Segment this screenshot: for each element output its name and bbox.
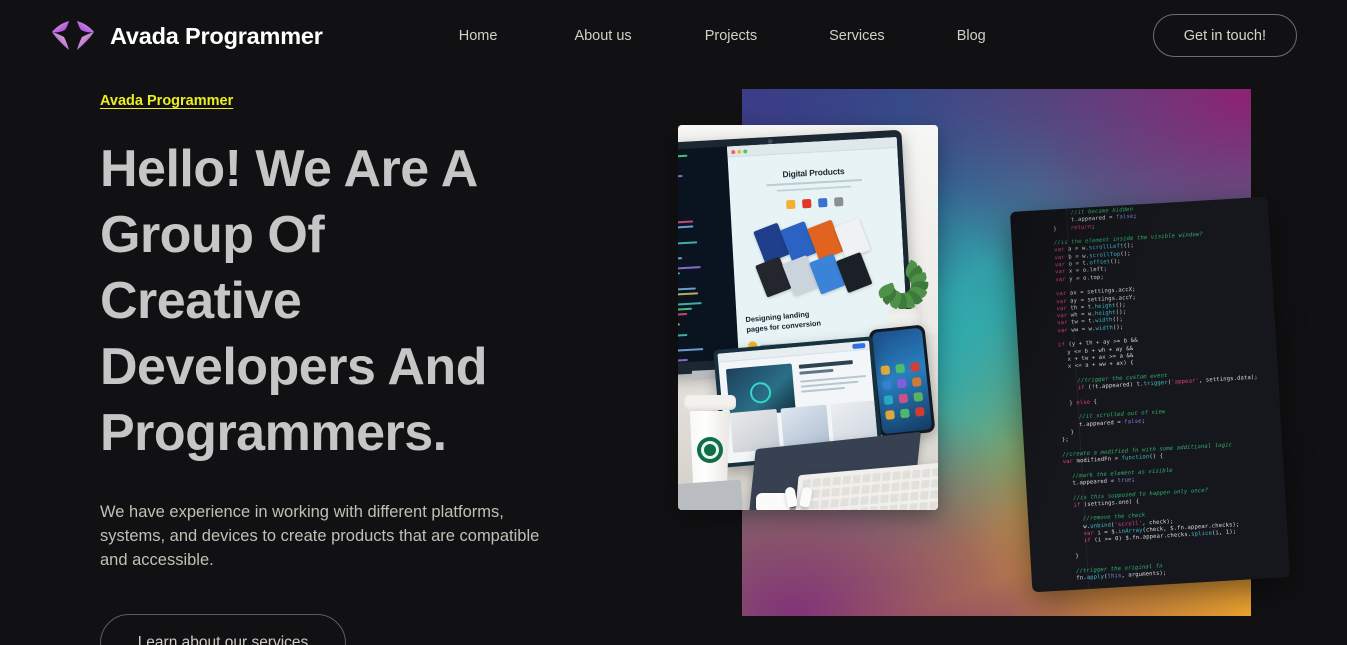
photo-starbucks-logo: [697, 437, 723, 463]
photo-keyboard-key: [812, 478, 821, 487]
photo-icon-2: [802, 199, 811, 208]
photo-browser-caption: Designing landing pages for conversion: [745, 307, 832, 334]
photo-keyboard-key: [899, 504, 908, 510]
photo-keyboard-key: [910, 492, 919, 501]
photo-keyboard-key: [879, 506, 888, 510]
photo-keyboard-key: [861, 485, 870, 494]
photo-keyboard-key: [850, 497, 859, 506]
photo-plant-leaves: [876, 253, 934, 315]
nav-item-projects[interactable]: Projects: [705, 22, 757, 50]
photo-phone-app-icon: [912, 377, 922, 387]
photo-phone-app-icon: [895, 364, 905, 374]
photo-airpod-left: [784, 486, 797, 507]
photo-keyboard-key: [922, 469, 931, 478]
photo-phone-app-icon: [915, 407, 925, 417]
photo-collage-card: [834, 218, 871, 259]
photo-phone-app-icon: [900, 408, 910, 418]
photo-keyboard-key: [862, 474, 871, 483]
photo-code-line: [678, 241, 697, 245]
photo-keyboard-key: [880, 494, 889, 503]
get-in-touch-button[interactable]: Get in touch!: [1153, 14, 1297, 57]
photo-phone-app-icon: [885, 410, 895, 420]
photo-starbucks-cup: [684, 395, 736, 493]
photo-keyboard-key: [872, 473, 881, 482]
photo-keyboard-key: [869, 506, 878, 510]
photo-code-line: [678, 292, 698, 297]
photo-keyboard-key: [832, 477, 841, 486]
photo-keyboard-key: [841, 487, 850, 496]
photo-keyboard-key: [859, 507, 868, 510]
photo-keyboard-key: [912, 470, 921, 479]
photo-phone-app-icon: [913, 392, 923, 402]
photo-browser-subline-2: [777, 186, 852, 192]
site-header: Avada Programmer Home About us Projects …: [0, 0, 1347, 72]
photo-code-line: [678, 324, 680, 328]
photo-ipad-cta: [852, 343, 865, 349]
photo-keyboard-key: [889, 505, 898, 510]
desk-workspace-photo: Digital Products Designing landing pages…: [678, 125, 938, 510]
photo-browser-dot: [737, 149, 741, 153]
photo-keyboard-key: [871, 484, 880, 493]
photo-phone-app-icon: [898, 394, 908, 404]
photo-phone-app-icon: [910, 362, 920, 372]
photo-keyboard-key: [822, 477, 831, 486]
nav-item-about-us[interactable]: About us: [574, 22, 631, 50]
code-snippet-body: //it became hiddent.appeared = false;} r…: [1010, 197, 1290, 593]
photo-code-line: [678, 313, 687, 317]
photo-browser-toolbar: [727, 137, 898, 157]
photo-code-line: [678, 363, 704, 364]
photo-keyboard-key: [882, 472, 891, 481]
nav-item-services[interactable]: Services: [829, 22, 885, 50]
photo-keyboard-key: [852, 475, 861, 484]
photo-code-line: [678, 308, 692, 312]
photo-keyboard-key: [929, 501, 938, 510]
photo-keyboard-key: [821, 489, 830, 498]
brand-logo-link[interactable]: Avada Programmer: [50, 19, 323, 53]
photo-icon-3: [818, 198, 827, 207]
photo-keyboard-key: [892, 471, 901, 480]
photo-code-line: [678, 266, 701, 271]
landing-page: Avada Programmer Home About us Projects …: [0, 0, 1347, 645]
photo-keyboard-key: [839, 509, 848, 510]
photo-keyboard-key: [919, 502, 928, 510]
photo-code-line: [678, 226, 693, 230]
hero-headline: Hello! We Are A Group Of Creative Develo…: [100, 136, 520, 466]
photo-keyboard-key: [930, 490, 938, 499]
photo-airpod-right: [799, 486, 813, 508]
photo-keyboard-key: [920, 491, 929, 500]
photo-keyboard-key: [901, 482, 910, 491]
photo-phone-app-icon: [882, 380, 892, 390]
hero-eyebrow-link[interactable]: Avada Programmer: [100, 93, 233, 109]
photo-iphone-screen: [872, 328, 932, 435]
photo-phone-app-icon: [897, 379, 907, 389]
photo-keyboard-key: [921, 480, 930, 489]
photo-code-line: [678, 273, 680, 276]
photo-keyboard-key: [849, 508, 858, 510]
photo-browser-card-collage: [749, 216, 883, 307]
code-snippet-panel: //it became hiddent.appeared = false;} r…: [1010, 197, 1290, 593]
nav-item-home[interactable]: Home: [459, 22, 498, 50]
brand-name: Avada Programmer: [110, 23, 323, 50]
photo-keyboard-key: [900, 493, 909, 502]
photo-code-line: [678, 302, 702, 307]
photo-keyboard-key: [860, 496, 869, 505]
photo-browser-icon-row: [730, 194, 901, 212]
photo-cup-lid: [684, 395, 736, 410]
photo-code-line: [678, 333, 687, 337]
hero-text-column: Avada Programmer Hello! We Are A Group O…: [100, 92, 660, 645]
photo-keyboard-key: [931, 479, 938, 488]
photo-collage-card: [836, 252, 873, 293]
photo-code-line: [678, 155, 687, 159]
photo-laptop-edge: [678, 480, 743, 510]
photo-keyboard-key: [842, 476, 851, 485]
photo-code-line: [678, 348, 703, 353]
learn-about-services-button[interactable]: Learn about our services: [100, 614, 346, 645]
photo-browser-title: Digital Products: [728, 163, 899, 182]
photo-keyboard-key: [840, 498, 849, 507]
photo-browser-dot: [743, 149, 747, 153]
photo-code-line: [678, 257, 682, 261]
photo-browser-dot: [731, 150, 735, 154]
main-nav: Home About us Projects Services Blog: [459, 22, 986, 50]
photo-keyboard-key: [820, 500, 829, 509]
code-brackets-icon: [50, 19, 96, 53]
photo-ipad-line-3: [801, 387, 845, 393]
photo-phone-app-icon: [880, 365, 890, 375]
photo-ipad-subheading: [799, 369, 833, 375]
photo-keyboard-key: [831, 488, 840, 497]
photo-icon-4: [834, 197, 843, 206]
photo-code-line: [678, 221, 693, 225]
photo-keyboard-key: [890, 494, 899, 503]
photo-keyboard-key: [851, 486, 860, 495]
photo-keyboard-key: [932, 468, 938, 477]
photo-keyboard-key: [870, 495, 879, 504]
photo-code-line: [678, 175, 683, 179]
photo-airpods: [786, 487, 820, 509]
photo-code-line: [678, 359, 688, 363]
photo-keyboard-key: [902, 470, 911, 479]
photo-keyboard-key: [830, 499, 839, 508]
photo-ipad-thumb-1: [730, 409, 780, 453]
photo-phone-app-icon: [883, 395, 893, 405]
photo-keyboard-key: [891, 482, 900, 491]
photo-icon-1: [786, 200, 795, 209]
photo-keyboard-key: [909, 503, 918, 510]
photo-keyboard-key: [911, 481, 920, 490]
photo-code-line: [678, 287, 696, 292]
photo-keyboard-key: [881, 483, 890, 492]
nav-item-blog[interactable]: Blog: [957, 22, 986, 50]
photo-ipad-heading: [799, 360, 853, 369]
hero-paragraph: We have experience in working with diffe…: [100, 500, 560, 572]
